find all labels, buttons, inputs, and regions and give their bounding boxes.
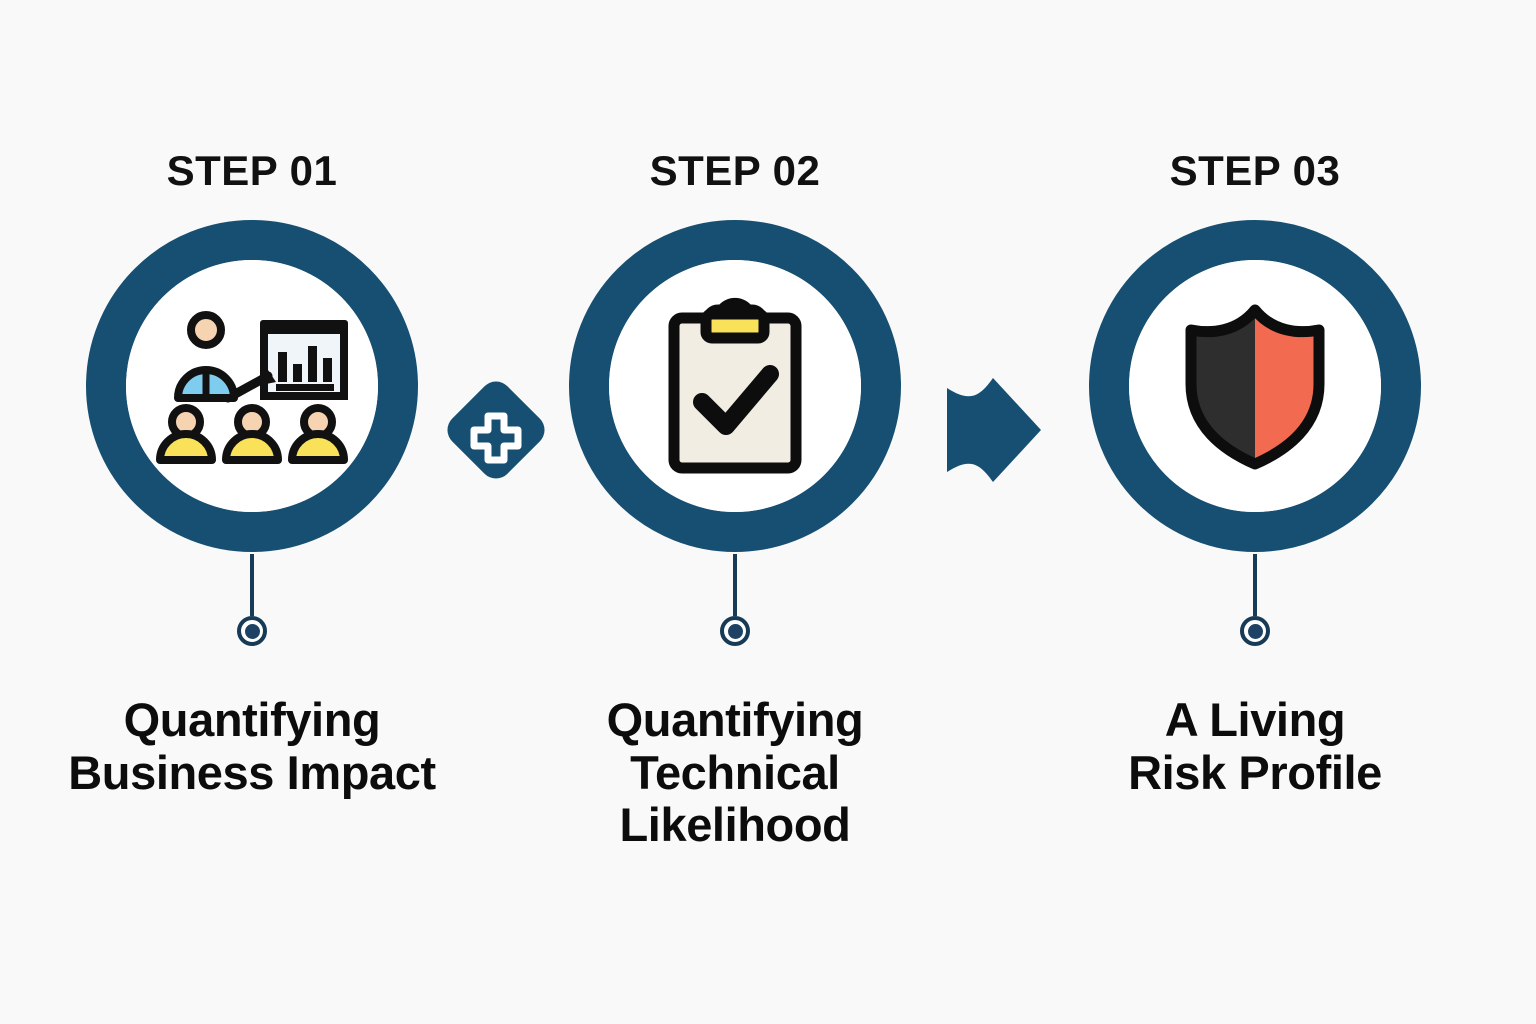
step-title-2: Quantifying Technical Likelihood (607, 694, 864, 852)
step-item-3: STEP 03 A L (1025, 150, 1485, 799)
step-circle-inner-1 (126, 260, 378, 512)
step-circle-1 (86, 220, 418, 552)
step-connector-stem-1 (250, 554, 254, 616)
step-node-dot-3 (1240, 616, 1270, 646)
clipboard-checkmark-icon (660, 296, 810, 476)
security-shield-icon (1175, 302, 1335, 470)
infographic-canvas: STEP 01 (0, 0, 1536, 1024)
step-node-dot-1 (237, 616, 267, 646)
step-circle-inner-3 (1129, 260, 1381, 512)
step-connector-stem-2 (733, 554, 737, 616)
step-kicker-3: STEP 03 (1170, 150, 1341, 192)
step-circle-3 (1089, 220, 1421, 552)
step-title-3: A Living Risk Profile (1128, 694, 1382, 799)
step-circle-inner-2 (609, 260, 861, 512)
step-kicker-1: STEP 01 (167, 150, 338, 192)
step-kicker-2: STEP 02 (650, 150, 821, 192)
step-title-1: Quantifying Business Impact (68, 694, 436, 799)
step-item-2: STEP 02 Quantifying Technical Likelihood (505, 150, 965, 852)
step-item-1: STEP 01 (22, 150, 482, 799)
step-node-dot-2 (720, 616, 750, 646)
step-connector-stem-3 (1253, 554, 1257, 616)
step-circle-2 (569, 220, 901, 552)
presentation-training-icon (152, 306, 352, 466)
